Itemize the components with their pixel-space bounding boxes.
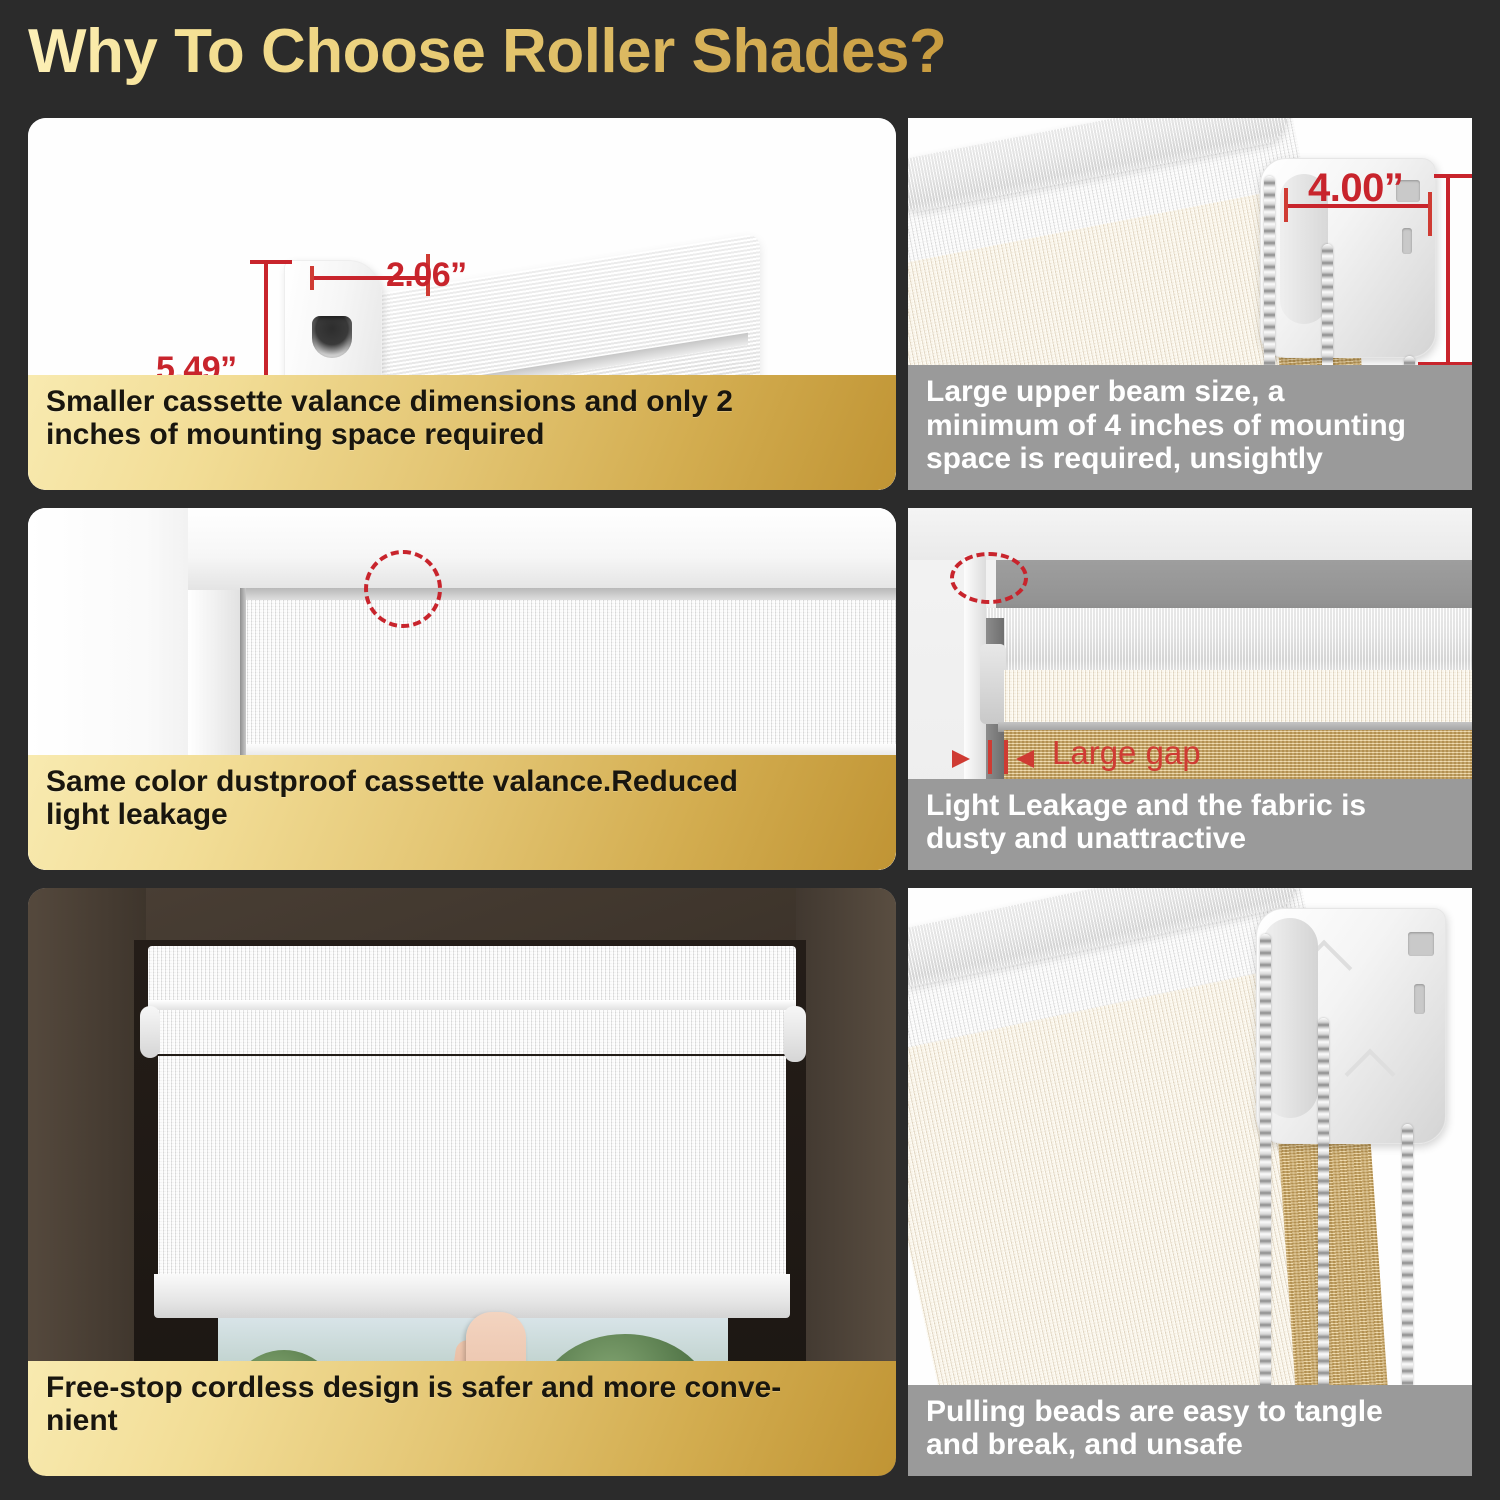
fabric-cream-band <box>1004 670 1472 726</box>
caption-line-1: Free-stop cordless design is safer and m… <box>46 1371 878 1405</box>
panel-pulling-beads: Pulling beads are easy to tangle and bre… <box>908 888 1472 1476</box>
caption-line-3: space is required, unsightly <box>926 442 1454 476</box>
panel-large-beam: 4.00” 4.00” Large upper beam size, a min… <box>908 118 1472 490</box>
shade-fabric-upper <box>242 600 896 750</box>
panel-caption: Smaller cassette valance dimensions and … <box>28 375 896 490</box>
height-dim-cap-top <box>250 260 292 264</box>
caption-line-1: Large upper beam size, a <box>926 375 1454 409</box>
gap-arrow-right <box>1016 750 1034 768</box>
gap-tick-b <box>1004 740 1008 774</box>
caption-line-2: inches of mounting space required <box>46 418 878 452</box>
panel-large-gap: Large gap Light Leakage and the fabric i… <box>908 508 1472 870</box>
beam-width-label: 4.00” <box>1308 166 1403 211</box>
cassette-end-cap-left <box>140 1006 160 1058</box>
caption-line-2: and break, and unsafe <box>926 1428 1454 1462</box>
caption-line-1: Light Leakage and the fabric is <box>926 789 1454 823</box>
shade-roller-band <box>154 1010 794 1054</box>
gap-tick-a <box>988 740 992 774</box>
caption-line-2: light leakage <box>46 798 878 832</box>
beam-height-dim-line <box>1446 174 1450 366</box>
caption-line-1: Pulling beads are easy to tangle <box>926 1395 1454 1429</box>
infographic-page: Why To Choose Roller Shades? 2.06” 5.49” <box>0 0 1500 1500</box>
page-title: Why To Choose Roller Shades? <box>28 18 946 86</box>
caption-line-1: Smaller cassette valance dimensions and … <box>46 385 878 419</box>
large-gap-label: Large gap <box>1052 734 1201 772</box>
shade-bottom-rail <box>154 1274 790 1318</box>
shade-cassette <box>148 946 796 1008</box>
large-gap-highlight-ellipse <box>950 552 1028 604</box>
roller-tube <box>972 608 1472 670</box>
bracket-small <box>980 644 1006 724</box>
tight-fit-highlight-circle <box>364 550 442 628</box>
beam-height-cap-top <box>1434 174 1472 178</box>
end-cap-slot <box>312 316 352 358</box>
caption-line-2: dusty and unattractive <box>926 822 1454 856</box>
caption-line-2: minimum of 4 inches of mounting <box>926 409 1454 443</box>
panel-caption: Free-stop cordless design is safer and m… <box>28 1361 896 1476</box>
window-frame-head <box>188 508 896 590</box>
width-dim-label: 2.06” <box>386 256 467 295</box>
beam-width-tick-right <box>1428 192 1432 236</box>
bracket-notch-top <box>1408 932 1434 956</box>
panel-smaller-gap: smaller gap Same color dustproof cassett… <box>28 508 896 870</box>
panel-cassette-dimensions: 2.06” 5.49” Smaller cassette valance dim… <box>28 118 896 490</box>
panel-caption: Large upper beam size, a minimum of 4 in… <box>908 365 1472 490</box>
beam-width-tick-left <box>1284 188 1288 222</box>
panel-caption: Pulling beads are easy to tangle and bre… <box>908 1385 1472 1476</box>
caption-line-1: Same color dustproof cassette valance.Re… <box>46 765 878 799</box>
panel-caption: Light Leakage and the fabric is dusty an… <box>908 779 1472 870</box>
panel-caption: Same color dustproof cassette valance.Re… <box>28 755 896 870</box>
bracket-notch-mid <box>1414 984 1425 1014</box>
panel-cordless-design: Free-stop cordless design is safer and m… <box>28 888 896 1476</box>
gap-arrow-left <box>952 750 970 768</box>
shade-head-rail <box>242 588 896 600</box>
bracket-notch-mid <box>1402 228 1412 254</box>
caption-line-2: nient <box>46 1404 878 1438</box>
cassette-end-cap-right <box>784 1006 806 1062</box>
shade-fabric <box>158 1056 786 1278</box>
width-dim-tick-left <box>310 266 314 290</box>
